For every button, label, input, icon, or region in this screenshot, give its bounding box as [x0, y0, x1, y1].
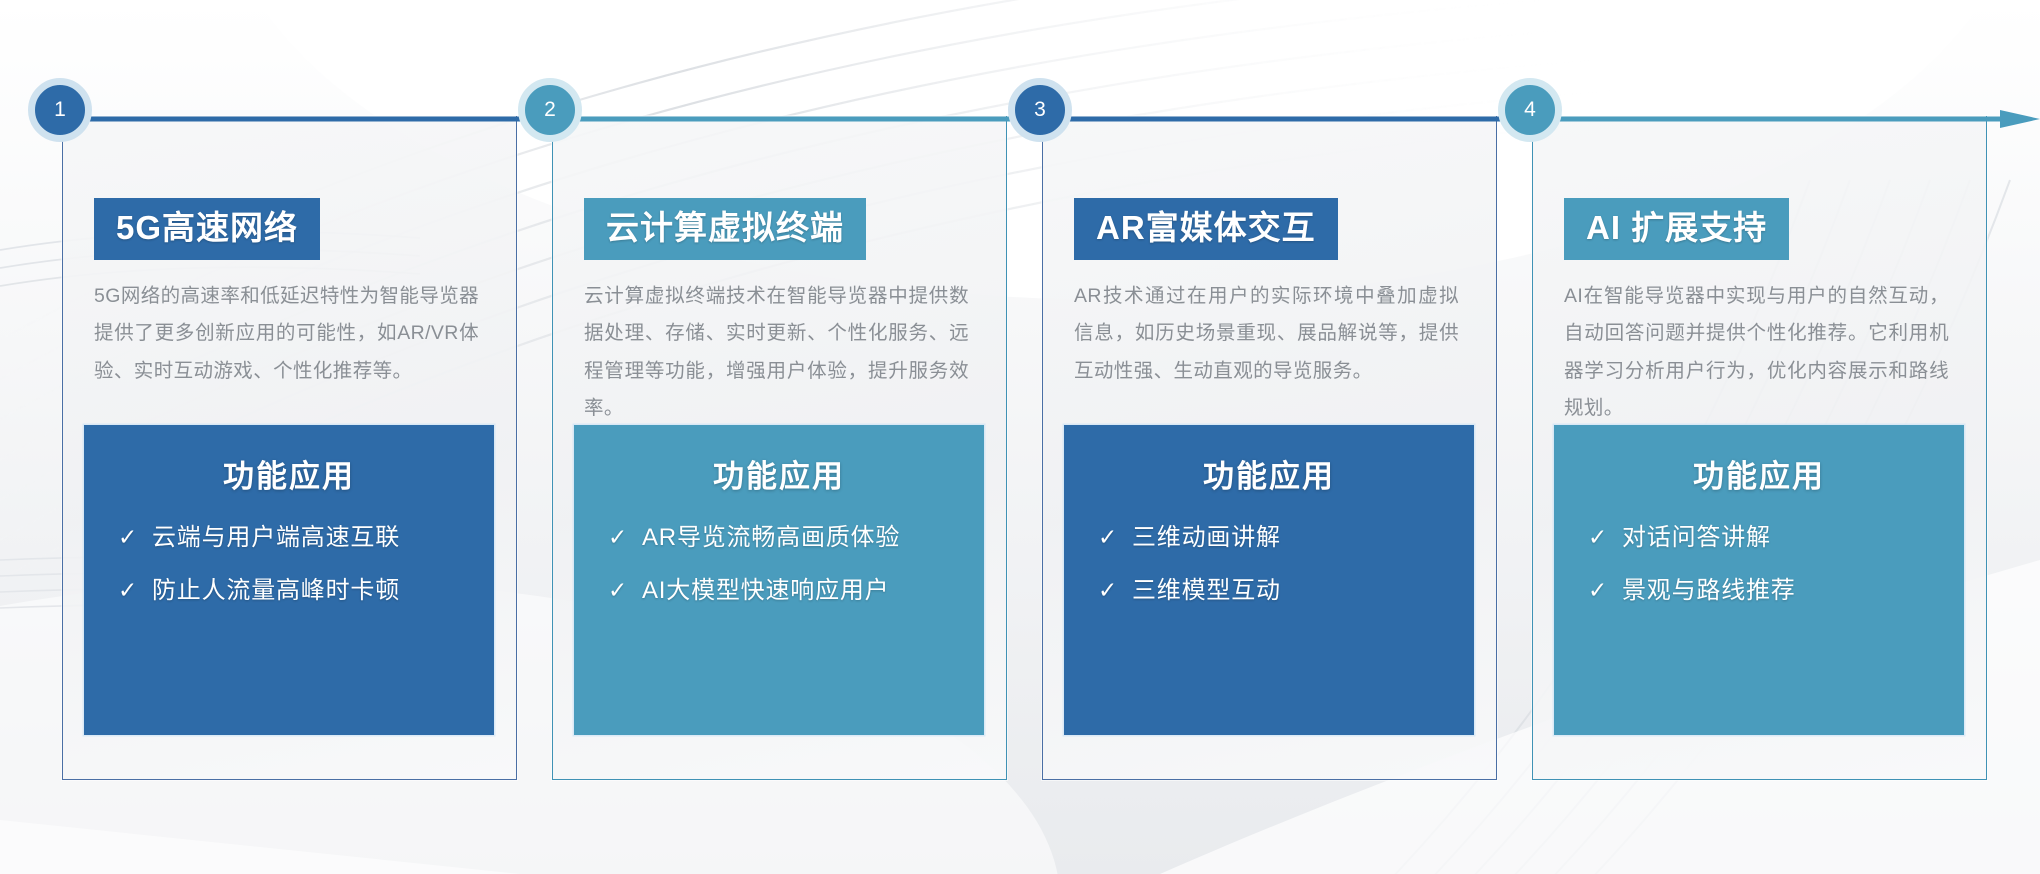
- column-description-3: AR技术通过在用户的实际环境中叠加虚拟信息，如历史场景重现、展品解说等，提供互动…: [1074, 278, 1459, 390]
- column-title-1: 5G高速网络: [94, 198, 320, 260]
- feature-list-item: ✓ AR导览流畅高画质体验: [608, 524, 964, 553]
- step-number-badge-2: 2: [518, 78, 582, 142]
- feature-card-2: 功能应用 ✓ AR导览流畅高画质体验 ✓ AI大模型快速响应用户: [574, 425, 984, 735]
- feature-card-heading-4: 功能应用: [1574, 451, 1944, 496]
- step-column-2: 2 云计算虚拟终端 云计算虚拟终端技术在智能导览器中提供数据处理、存储、实时更新…: [552, 110, 1007, 780]
- step-number-4: 4: [1524, 98, 1536, 122]
- step-number-1: 1: [54, 98, 66, 122]
- column-description-2: 云计算虚拟终端技术在智能导览器中提供数据处理、存储、实时更新、个性化服务、远程管…: [584, 278, 969, 428]
- feature-list-item: ✓ AI大模型快速响应用户: [608, 577, 964, 606]
- feature-card-1: 功能应用 ✓ 云端与用户端高速互联 ✓ 防止人流量高峰时卡顿: [84, 425, 494, 735]
- feature-list-item: ✓ 三维动画讲解: [1098, 524, 1454, 553]
- feature-list-item: ✓ 三维模型互动: [1098, 577, 1454, 606]
- check-icon: ✓: [118, 577, 152, 605]
- check-icon: ✓: [1588, 577, 1622, 605]
- step-number-badge-3: 3: [1008, 78, 1072, 142]
- feature-item-label: 防止人流量高峰时卡顿: [152, 577, 400, 606]
- column-title-3: AR富媒体交互: [1074, 198, 1338, 260]
- feature-item-label: 三维动画讲解: [1132, 524, 1281, 553]
- feature-item-label: 景观与路线推荐: [1622, 577, 1796, 606]
- feature-list-item: ✓ 云端与用户端高速互联: [118, 524, 474, 553]
- check-icon: ✓: [118, 524, 152, 552]
- step-number-2: 2: [544, 98, 556, 122]
- step-number-badge-1: 1: [28, 78, 92, 142]
- feature-item-label: AI大模型快速响应用户: [642, 577, 889, 606]
- check-icon: ✓: [1588, 524, 1622, 552]
- column-description-1: 5G网络的高速率和低延迟特性为智能导览器提供了更多创新应用的可能性，如AR/VR…: [94, 278, 479, 390]
- step-number-3: 3: [1034, 98, 1046, 122]
- check-icon: ✓: [1098, 577, 1132, 605]
- column-title-2: 云计算虚拟终端: [584, 198, 866, 260]
- step-column-4: 4 AI 扩展支持 AI在智能导览器中实现与用户的自然互动，自动回答问题并提供个…: [1532, 110, 1987, 780]
- feature-item-label: 三维模型互动: [1132, 577, 1281, 606]
- feature-item-label: 对话问答讲解: [1622, 524, 1771, 553]
- check-icon: ✓: [608, 524, 642, 552]
- feature-item-label: 云端与用户端高速互联: [152, 524, 400, 553]
- feature-list-item: ✓ 对话问答讲解: [1588, 524, 1944, 553]
- step-number-badge-4: 4: [1498, 78, 1562, 142]
- column-title-4: AI 扩展支持: [1564, 198, 1789, 260]
- feature-card-heading-1: 功能应用: [104, 451, 474, 496]
- feature-list-item: ✓ 防止人流量高峰时卡顿: [118, 577, 474, 606]
- feature-card-4: 功能应用 ✓ 对话问答讲解 ✓ 景观与路线推荐: [1554, 425, 1964, 735]
- feature-list-item: ✓ 景观与路线推荐: [1588, 577, 1944, 606]
- check-icon: ✓: [1098, 524, 1132, 552]
- column-description-4: AI在智能导览器中实现与用户的自然互动，自动回答问题并提供个性化推荐。它利用机器…: [1564, 278, 1949, 428]
- feature-card-3: 功能应用 ✓ 三维动画讲解 ✓ 三维模型互动: [1064, 425, 1474, 735]
- step-column-3: 3 AR富媒体交互 AR技术通过在用户的实际环境中叠加虚拟信息，如历史场景重现、…: [1042, 110, 1497, 780]
- check-icon: ✓: [608, 577, 642, 605]
- feature-item-label: AR导览流畅高画质体验: [642, 524, 900, 553]
- feature-card-heading-3: 功能应用: [1084, 451, 1454, 496]
- infographic-stage: 1 5G高速网络 5G网络的高速率和低延迟特性为智能导览器提供了更多创新应用的可…: [0, 0, 2040, 874]
- feature-card-heading-2: 功能应用: [594, 451, 964, 496]
- step-column-1: 1 5G高速网络 5G网络的高速率和低延迟特性为智能导览器提供了更多创新应用的可…: [62, 110, 517, 780]
